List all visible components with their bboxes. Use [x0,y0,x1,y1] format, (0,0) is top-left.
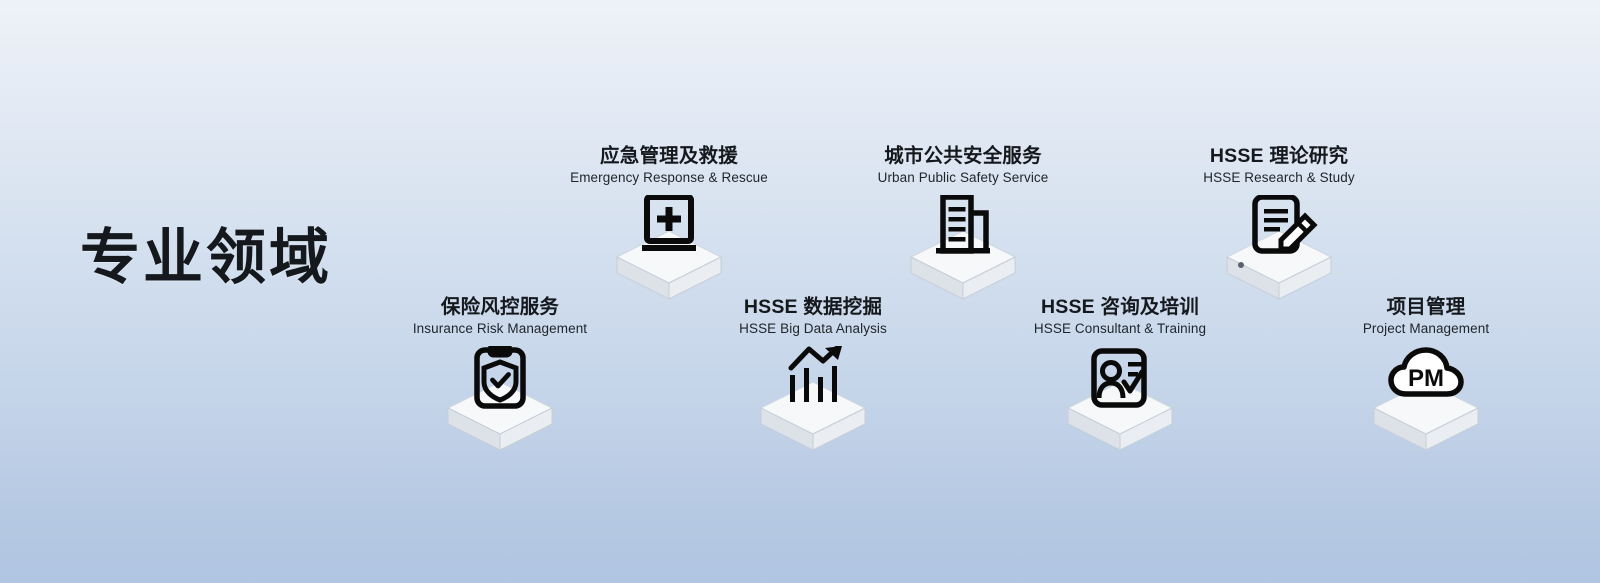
domain-item-hsse-research-study[interactable]: HSSE 理论研究 HSSE Research & Study [1129,145,1429,305]
domain-artwork [350,346,650,456]
domain-item-project-management[interactable]: 项目管理 Project Management PM [1276,296,1576,456]
domain-subtitle: HSSE Research & Study [1129,170,1429,186]
professional-domains-banner: 专业领域 应急管理及救援 Emergency Response & Rescue [0,0,1600,583]
domain-item-insurance-risk-management[interactable]: 保险风控服务 Insurance Risk Management [350,296,650,456]
domain-item-urban-public-safety-service[interactable]: 城市公共安全服务 Urban Public Safety Service [813,145,1113,305]
domain-subtitle: Insurance Risk Management [350,321,650,337]
domain-item-emergency-response-rescue[interactable]: 应急管理及救援 Emergency Response & Rescue [519,145,819,305]
domain-title: HSSE 理论研究 [1129,145,1429,167]
domain-subtitle: HSSE Consultant & Training [970,321,1270,337]
cloud-pm-icon: PM [1366,346,1486,456]
domain-item-hsse-big-data-analysis[interactable]: HSSE 数据挖掘 HSSE Big Data Analysis [663,296,963,456]
cloud-icon-label: PM [1408,365,1444,392]
domain-item-hsse-consultant-training[interactable]: HSSE 咨询及培训 HSSE Consultant & Training [970,296,1270,456]
domain-title: 城市公共安全服务 [813,145,1113,167]
domain-artwork: PM [1276,346,1576,456]
page-title: 专业领域 [80,228,332,288]
domain-subtitle: Project Management [1276,321,1576,337]
id-card-person-check-icon [1060,346,1180,456]
domain-title: 保险风控服务 [350,296,650,318]
document-pencil-icon [1219,195,1339,305]
domain-artwork [663,346,963,456]
domain-artwork [813,195,1113,305]
domain-subtitle: Emergency Response & Rescue [519,170,819,186]
domain-artwork [519,195,819,305]
domain-subtitle: Urban Public Safety Service [813,170,1113,186]
office-building-icon [903,195,1023,305]
clipboard-shield-check-icon [440,346,560,456]
domain-artwork [1129,195,1429,305]
domain-title: HSSE 咨询及培训 [970,296,1270,318]
bar-chart-trend-icon [753,346,873,456]
domain-title: 应急管理及救援 [519,145,819,167]
domain-title: 项目管理 [1276,296,1576,318]
domain-artwork [970,346,1270,456]
domain-subtitle: HSSE Big Data Analysis [663,321,963,337]
domain-title: HSSE 数据挖掘 [663,296,963,318]
monitor-plus-icon [609,195,729,305]
